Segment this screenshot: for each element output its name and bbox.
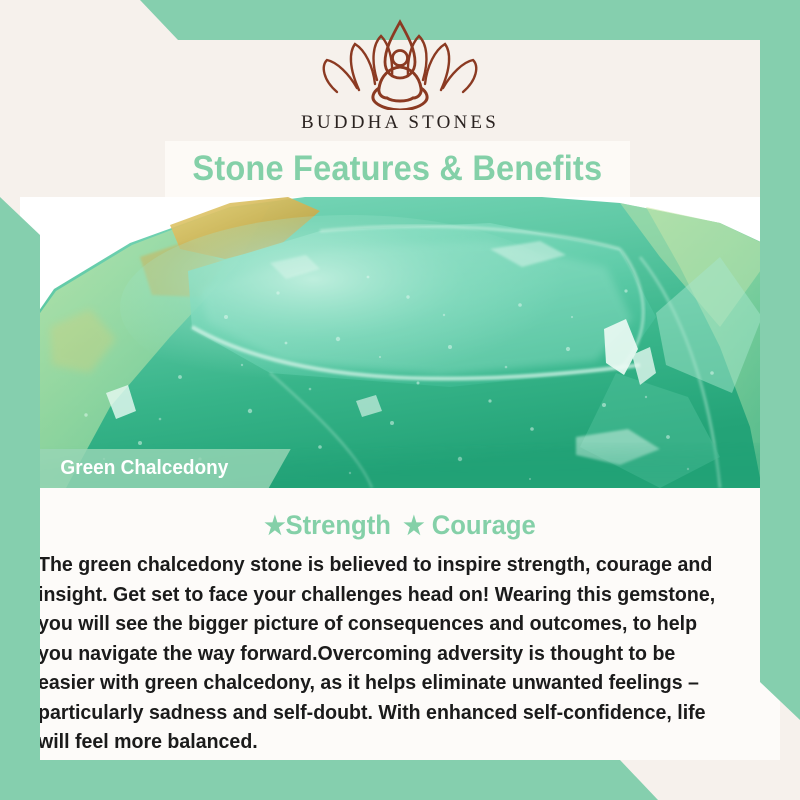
brand-name: BUDDHA STONES [301, 112, 499, 134]
benefits-paragraph: The green chalcedony stone is believed t… [38, 551, 737, 758]
lotus-meditation-icon [315, 18, 485, 110]
star-icon-strength: ★ [264, 512, 285, 540]
star-icon-courage: ★ [403, 512, 424, 540]
green-edge-band-left [0, 197, 40, 800]
stone-name-badge: Green Chalcedony [20, 449, 291, 488]
page-title: Stone Features & Benefits [193, 149, 603, 189]
logo: BUDDHA STONES [301, 18, 499, 134]
gemstone-photo: Green Chalcedony [20, 197, 780, 488]
content-card: ★Strength★ Courage The green chalcedony … [20, 488, 780, 760]
green-chalcedony-rough-stone-photo [20, 197, 780, 488]
keyword-strength: Strength [285, 510, 390, 540]
title-banner: Stone Features & Benefits [165, 141, 630, 197]
keyword-courage: Courage [432, 510, 536, 540]
keyword-row: ★Strength★ Courage [39, 510, 761, 541]
stone-benefits-poster: Green Chalcedony ★Strength★ Courage The … [0, 0, 800, 800]
stone-name-label: Green Chalcedony [60, 457, 228, 480]
